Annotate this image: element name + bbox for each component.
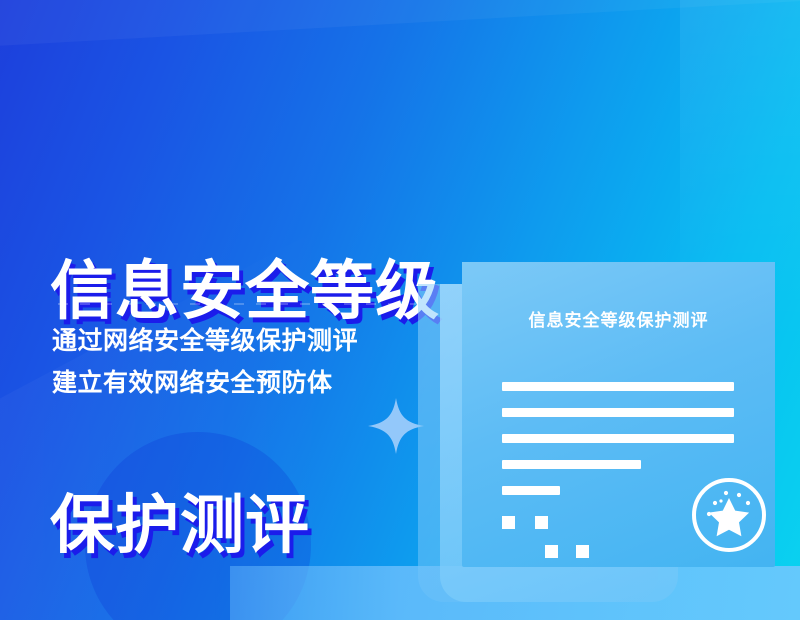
subtitle-line-1: 通过网络安全等级保护测评 [52,320,358,362]
certificate-title: 信息安全等级保护测评 [462,306,775,331]
headline-line-1: 信息安全等级 [50,252,440,330]
certificate-line [502,460,641,469]
headline-line-2: 保护测评 [50,486,440,564]
banner-subtitle: 通过网络安全等级保护测评 建立有效网络安全预防体 [52,320,358,404]
certificate-square [535,516,548,529]
certificate-line [502,434,734,443]
star-seal-icon [690,476,768,554]
certificate-square [545,545,558,558]
background-top-band [0,0,800,50]
certificate-line [502,382,734,391]
certificate-square [576,545,589,558]
subtitle-line-2: 建立有效网络安全预防体 [52,362,358,404]
certificate-square [502,516,515,529]
dotted-divider [58,303,420,305]
certificate-stack: 信息安全等级保护测评 [418,262,790,602]
promo-banner: 信息安全等级 保护测评 通过网络安全等级保护测评 建立有效网络安全预防体 信息安… [0,0,800,620]
certificate-line [502,486,560,495]
certificate-line [502,408,734,417]
certificate-front-page: 信息安全等级保护测评 [462,262,775,567]
